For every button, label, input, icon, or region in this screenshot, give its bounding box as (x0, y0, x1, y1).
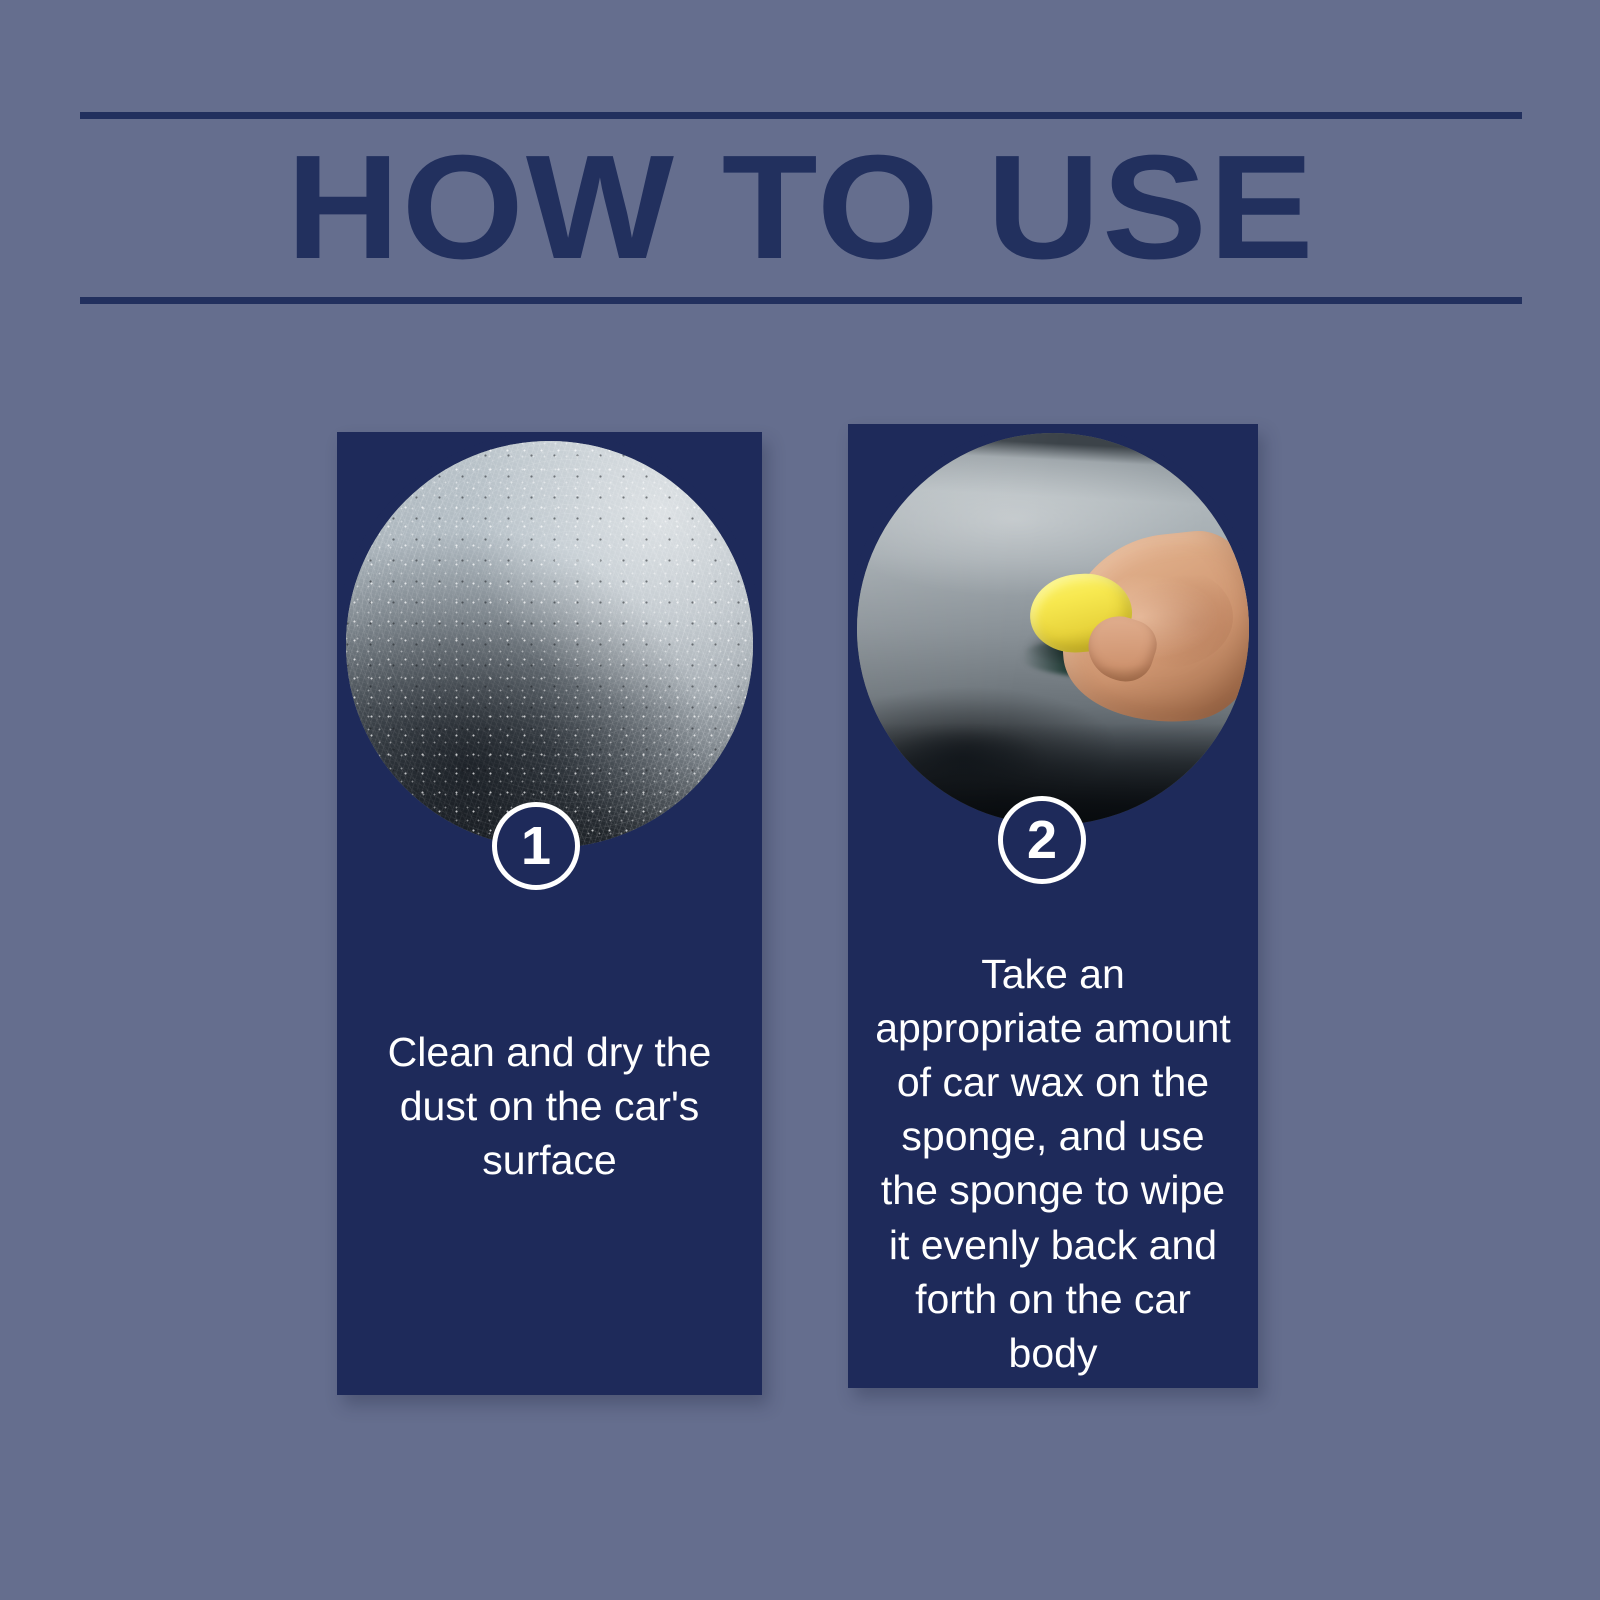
page-title: HOW TO USE (37, 112, 1566, 304)
step-number-2: 2 (1027, 813, 1057, 867)
header: HOW TO USE (80, 112, 1522, 304)
step-number-1: 1 (521, 819, 551, 873)
step-image-2 (857, 433, 1249, 825)
step-badge-1: 1 (492, 802, 580, 890)
wax-application-photo (857, 433, 1249, 825)
step-card-2-arch (848, 424, 1258, 842)
step-caption-2: Take an appropriate amount of car wax on… (848, 947, 1258, 1380)
header-rule-bottom (80, 297, 1522, 304)
step-card-1-arch (337, 432, 762, 862)
step-caption-1: Clean and dry the dust on the car's surf… (337, 1025, 762, 1187)
step-card-2[interactable]: 2 Take an appropriate amount of car wax … (848, 424, 1258, 1388)
step-image-1 (346, 441, 753, 848)
step-badge-2: 2 (998, 796, 1086, 884)
dust-speckle-texture (346, 441, 753, 848)
dusty-car-paint-photo (346, 441, 753, 848)
step-card-1[interactable]: 1 Clean and dry the dust on the car's su… (337, 432, 762, 1395)
